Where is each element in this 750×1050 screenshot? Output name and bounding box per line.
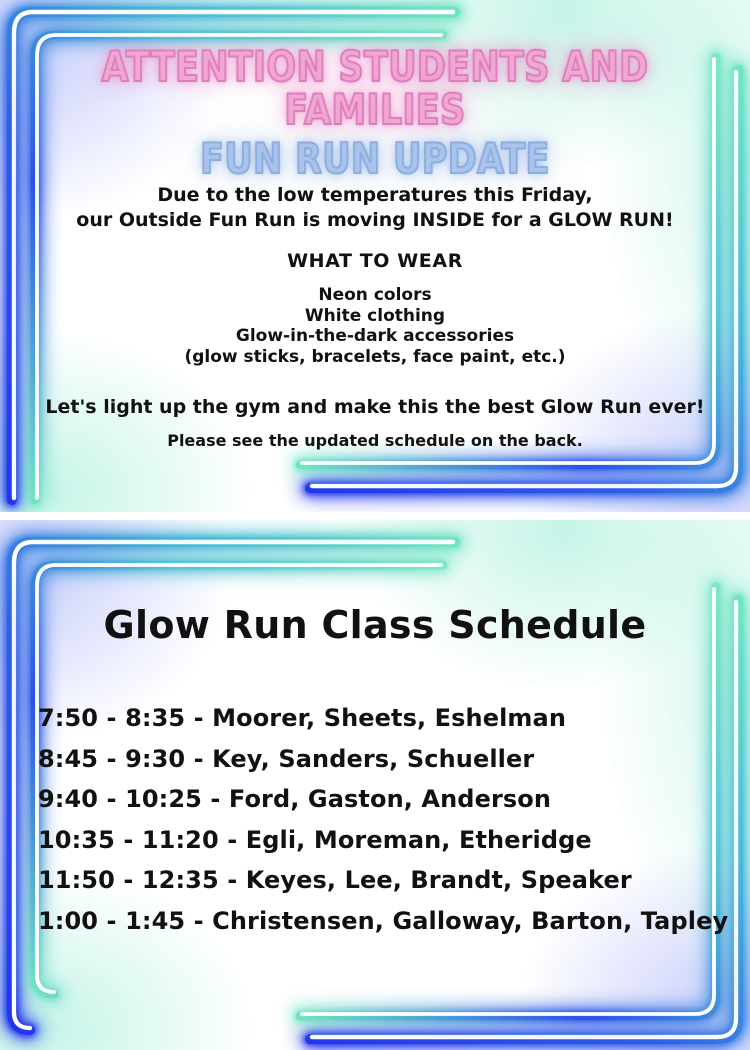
schedule-list: 7:50 - 8:35 - Moorer, Sheets, Eshelman 8…: [38, 698, 728, 941]
glow-run-poster: ATTENTION STUDENTS AND FAMILIES FUN RUN …: [0, 0, 750, 1050]
schedule-row: 7:50 - 8:35 - Moorer, Sheets, Eshelman: [38, 698, 728, 739]
schedule-title: Glow Run Class Schedule: [0, 603, 750, 647]
schedule-row: 10:35 - 11:20 - Egli, Moreman, Etheridge: [38, 820, 728, 861]
schedule-content: Glow Run Class Schedule 7:50 - 8:35 - Mo…: [0, 0, 750, 1050]
schedule-row: 9:40 - 10:25 - Ford, Gaston, Anderson: [38, 779, 728, 820]
schedule-row: 1:00 - 1:45 - Christensen, Galloway, Bar…: [38, 901, 728, 942]
schedule-row: 11:50 - 12:35 - Keyes, Lee, Brandt, Spea…: [38, 860, 728, 901]
schedule-row: 8:45 - 9:30 - Key, Sanders, Schueller: [38, 739, 728, 780]
